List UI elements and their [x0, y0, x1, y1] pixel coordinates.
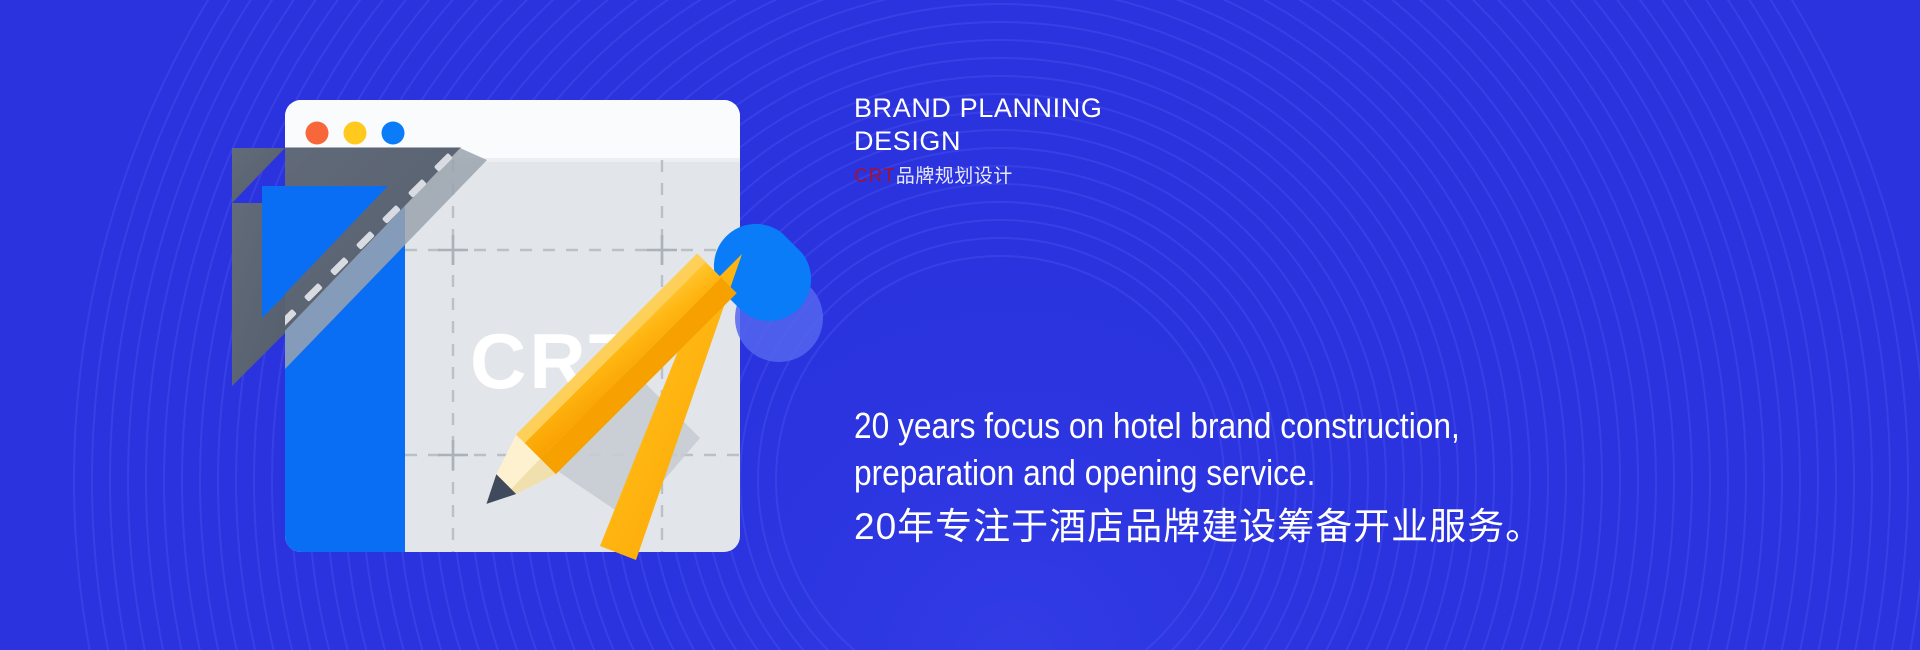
headline-english: BRAND PLANNING DESIGN — [854, 92, 1554, 158]
headline-chinese-text: 品牌规划设计 — [896, 166, 1013, 187]
tagline-chinese: 20年专注于酒店品牌建设筹备开业服务。 — [854, 502, 1684, 552]
minimize-dot — [344, 122, 367, 145]
headline-chinese: CRT品牌规划设计 — [854, 165, 1554, 189]
tagline-english: 20 years focus on hotel brand constructi… — [854, 402, 1584, 496]
close-dot — [306, 122, 329, 145]
tagline-block: 20 years focus on hotel brand constructi… — [854, 402, 1684, 552]
brand-illustration: CRT — [0, 0, 820, 650]
headline-block: BRAND PLANNING DESIGN CRT品牌规划设计 — [854, 92, 1554, 189]
maximize-dot — [382, 122, 405, 145]
brand-banner: CRT — [0, 0, 1920, 650]
brand-mark: CRT — [854, 166, 896, 187]
triangle-ruler-overflow — [232, 148, 285, 386]
